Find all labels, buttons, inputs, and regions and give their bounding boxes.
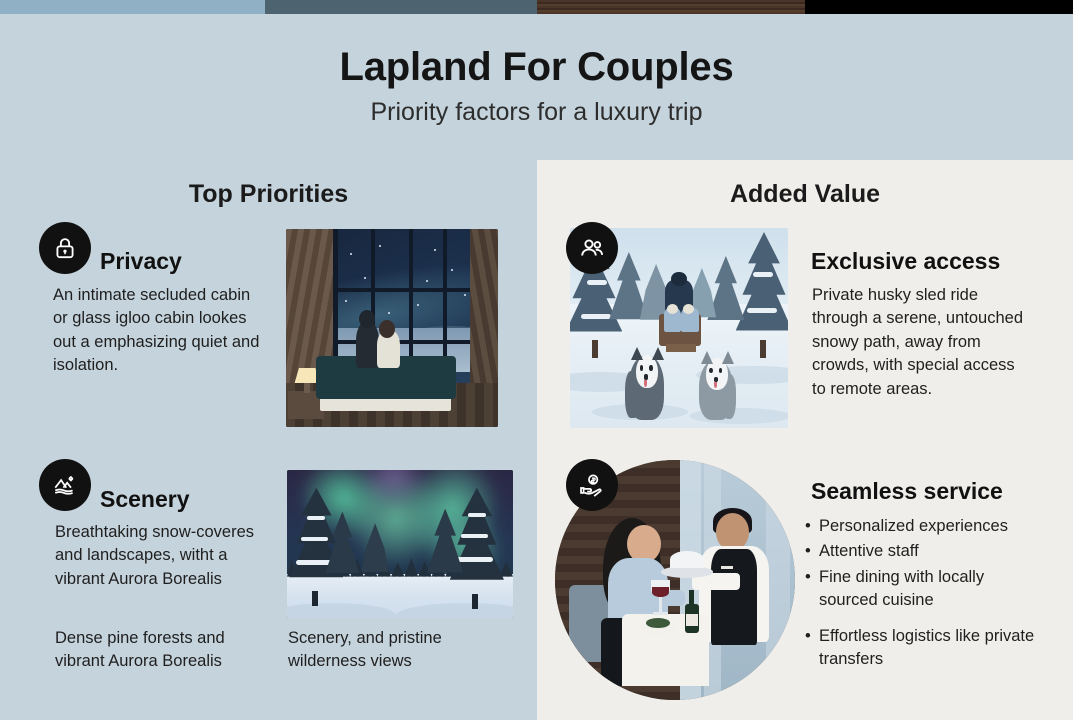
page-title: Lapland For Couples [340,44,734,90]
hand-coin-icon [566,459,618,511]
list-item: Attentive staff [805,540,1035,563]
list-item: Effortless logistics like private transf… [805,625,1035,672]
section-body-privacy: An intimate secluded cabin or glass iglo… [53,284,266,378]
bullet-list-seamless-service: Personalized experiences Attentive staff… [805,515,1035,674]
strip-band-slate [265,0,537,14]
strip-band-wood-brown [537,0,805,14]
top-color-strip [0,0,1073,14]
caption-scenery: Scenery, and pristine wilderness views [288,627,503,674]
lock-icon [39,222,91,274]
left-panel-heading: Top Priorities [0,160,537,209]
section-title-scenery: Scenery [100,486,190,513]
section-body-exclusive-access: Private husky sled ride through a serene… [812,284,1027,401]
header: Lapland For Couples Priority factors for… [0,14,1073,160]
right-panel-heading: Added Value [537,160,1073,209]
list-item: Fine dining with locally sourced cuisine [805,566,1035,613]
image-glass-igloo-cabin [286,229,498,427]
section-body-scenery: Breathtaking snow-coveres and landscapes… [55,521,267,591]
strip-band-black [805,0,1073,14]
section-body-scenery-secondary: Dense pine forests and vibrant Aurora Bo… [55,627,270,674]
page-subtitle: Priority factors for a luxury trip [370,98,702,127]
mountain-scenery-icon [39,459,91,511]
people-icon [566,222,618,274]
image-aurora-forest [287,470,513,618]
strip-band-ice-blue [0,0,265,14]
list-item: Personalized experiences [805,515,1035,538]
section-title-seamless-service: Seamless service [811,478,1003,505]
section-title-exclusive-access: Exclusive access [811,248,1000,275]
left-panel-top-priorities: Top Priorities Privacy An intimate seclu… [0,160,537,720]
section-title-privacy: Privacy [100,248,182,275]
right-panel-added-value: Added Value [537,160,1073,720]
infographic-page: Lapland For Couples Priority factors for… [0,0,1073,720]
